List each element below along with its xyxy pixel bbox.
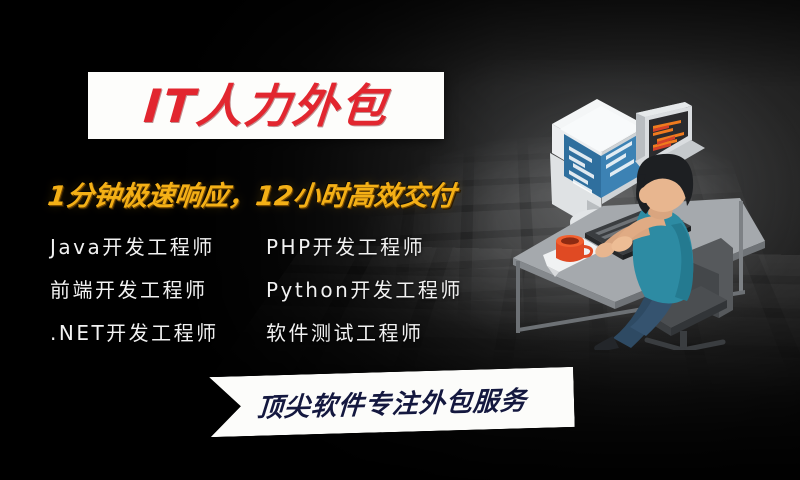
service-item: PHP开发工程师: [266, 231, 490, 260]
poster-title: IT人力外包: [142, 83, 391, 129]
service-item: .NET开发工程师: [50, 317, 266, 346]
service-list: Java开发工程师 PHP开发工程师 前端开发工程师 Python开发工程师 .…: [50, 224, 490, 353]
developer-at-desk-illustration: [495, 78, 795, 350]
poster-subtitle: 1分钟极速响应，12小时高效交付: [46, 174, 457, 213]
service-item: Python开发工程师: [266, 274, 490, 303]
ribbon-slogan: 顶尖软件专注外包服务: [256, 380, 528, 425]
service-row: Java开发工程师 PHP开发工程师: [50, 224, 490, 267]
service-item: 软件测试工程师: [266, 317, 490, 346]
title-banner: IT人力外包: [88, 72, 444, 139]
ribbon-inner: 顶尖软件专注外包服务: [209, 367, 575, 437]
bottom-ribbon: 顶尖软件专注外包服务: [209, 367, 575, 437]
poster-root: IT人力外包 1分钟极速响应，12小时高效交付 Java开发工程师 PHP开发工…: [0, 0, 800, 480]
service-item: 前端开发工程师: [50, 274, 266, 303]
service-row: .NET开发工程师 软件测试工程师: [50, 310, 490, 353]
service-row: 前端开发工程师 Python开发工程师: [50, 267, 490, 310]
service-item: Java开发工程师: [50, 231, 266, 260]
